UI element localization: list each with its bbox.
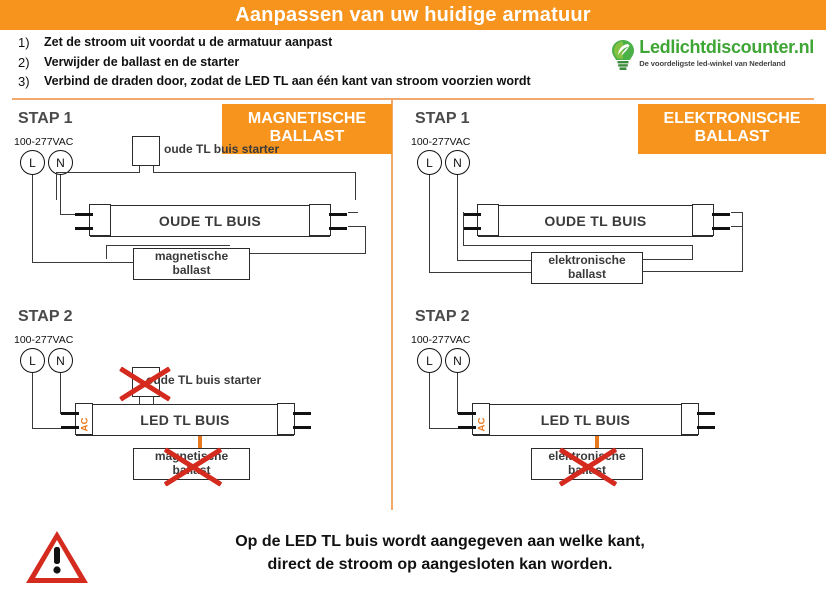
right-step1-ballast-label: elektronische ballast bbox=[548, 254, 625, 282]
badge-line-1: MAGNETISCHE bbox=[232, 110, 382, 128]
right-step2-tube-label: LED TL BUIS bbox=[541, 412, 630, 428]
right-step1-pin-r2 bbox=[712, 227, 730, 230]
left-step1-pin-l2 bbox=[75, 227, 93, 230]
left-step1-tube-label: OUDE TL BUIS bbox=[159, 213, 261, 229]
page-title-bar: Aanpassen van uw huidige armatuur bbox=[0, 0, 826, 30]
badge-line-2: BALLAST bbox=[648, 128, 816, 146]
left-step1-starter-wire-right bbox=[153, 172, 356, 173]
left-step1-pin-r1 bbox=[329, 213, 347, 216]
left-step2-ballast-x-icon bbox=[160, 442, 226, 492]
right-step2-pin-r2 bbox=[697, 426, 715, 429]
right-step1-ret-to-ballast bbox=[641, 271, 743, 272]
left-step1-tube-cap-left bbox=[89, 204, 111, 236]
right-step1-wire-l-to-ballast bbox=[429, 272, 531, 273]
right-step1-ballast-box: elektronische ballast bbox=[531, 252, 643, 284]
left-step2-pin-l1 bbox=[61, 412, 79, 415]
right-step2-ballast-x-icon bbox=[555, 442, 621, 492]
right-step1-pin-r1 bbox=[712, 213, 730, 216]
instruction-number: 3) bbox=[18, 74, 44, 89]
right-step2-pin-l2 bbox=[458, 426, 476, 429]
left-step1-wire-l-to-ballast bbox=[32, 262, 140, 263]
left-step1-wire-n-down bbox=[60, 175, 61, 215]
warning-triangle-icon bbox=[24, 528, 90, 586]
footer-line-2: direct de stroom op aangesloten kan word… bbox=[110, 553, 770, 576]
left-step1-starter-label: oude TL buis starter bbox=[164, 142, 279, 156]
left-step2-pin-r2 bbox=[293, 426, 311, 429]
left-step1-ret-down bbox=[365, 226, 366, 254]
left-step1-ballast-line1: magnetische bbox=[155, 249, 228, 263]
left-step2-pin-r1 bbox=[293, 412, 311, 415]
left-step2-tube-cap-right bbox=[277, 403, 295, 435]
left-step2-wire-n-down bbox=[60, 373, 61, 414]
left-step1-tube-bottom-wire bbox=[106, 245, 230, 246]
left-step1-pin-r2 bbox=[329, 227, 347, 230]
instruction-item: 3) Verbind de draden door, zodat de LED … bbox=[18, 74, 618, 90]
left-step2-led-tube: AC LED TL BUIS bbox=[76, 404, 294, 436]
badge-line-1: ELEKTRONISCHE bbox=[648, 110, 816, 128]
instruction-item: 1) Zet de stroom uit voordat u de armatu… bbox=[18, 35, 618, 51]
right-step1-wire-n-down bbox=[457, 175, 458, 261]
right-step2-led-tube: AC LED TL BUIS bbox=[473, 404, 698, 436]
right-step1-voltage: 100-277VAC bbox=[411, 136, 470, 148]
left-step1-starter-body bbox=[132, 136, 160, 166]
logo-name: Ledlichtdiscounter.nl bbox=[639, 38, 814, 56]
right-step1-ballast-line2: ballast bbox=[568, 267, 606, 281]
left-step1-voltage: 100-277VAC bbox=[14, 136, 73, 148]
page-title: Aanpassen van uw huidige armatuur bbox=[235, 4, 591, 27]
left-step2-title: STAP 2 bbox=[18, 308, 73, 326]
right-step1-pin-l1 bbox=[463, 213, 481, 216]
right-step1-bus-to-ballast bbox=[641, 259, 693, 260]
right-step2-tube-cap-right bbox=[681, 403, 699, 435]
footer-line-1: Op de LED TL buis wordt aangegeven aan w… bbox=[110, 530, 770, 553]
left-step1-tube: OUDE TL BUIS bbox=[90, 205, 330, 237]
left-step1-tube-bottom-drop bbox=[106, 245, 107, 259]
left-step2-tube-label: LED TL BUIS bbox=[140, 412, 229, 428]
right-step1-tube-cap-right bbox=[692, 204, 714, 236]
left-step2-starter-x-icon bbox=[116, 362, 174, 406]
right-step2-tube-cap-left: AC bbox=[472, 403, 490, 435]
right-step2-pin-r1 bbox=[697, 412, 715, 415]
instruction-number: 1) bbox=[18, 35, 44, 50]
left-step1-ret-top bbox=[348, 212, 358, 213]
logo-tagline: De voordeligste led-winkel van Nederland bbox=[639, 59, 814, 68]
right-step2-terminal-n: N bbox=[445, 348, 470, 373]
left-step1-ret-bot bbox=[348, 226, 366, 227]
left-step2-voltage: 100-277VAC bbox=[14, 334, 73, 346]
right-step2-voltage: 100-277VAC bbox=[411, 334, 470, 346]
lightbulb-leaf-icon bbox=[610, 38, 636, 72]
right-step1-tube: OUDE TL BUIS bbox=[478, 205, 713, 237]
left-step1-starter-drop-left bbox=[56, 172, 57, 200]
right-step1-ret-down bbox=[742, 212, 743, 272]
left-step1-ballast-line2: ballast bbox=[172, 263, 210, 277]
right-step1-bus-bottom bbox=[463, 245, 693, 246]
logo-text-block: Ledlichtdiscounter.nl De voordeligste le… bbox=[639, 38, 814, 68]
left-step1-wire-l-down bbox=[32, 175, 33, 263]
panel-electronic-ballast: ELEKTRONISCHE BALLAST STAP 1 100-277VAC … bbox=[393, 100, 826, 510]
right-step2-title: STAP 2 bbox=[415, 308, 470, 326]
left-step1-starter-wire-left bbox=[56, 172, 140, 173]
left-step2-terminal-n: N bbox=[48, 348, 73, 373]
badge-elektronische-ballast: ELEKTRONISCHE BALLAST bbox=[638, 104, 826, 154]
footer-text: Op de LED TL buis wordt aangegeven aan w… bbox=[110, 530, 770, 576]
right-step2-wire-l-down bbox=[429, 373, 430, 429]
brand-logo: Ledlichtdiscounter.nl De voordeligste le… bbox=[610, 38, 814, 72]
right-step2-pin-l1 bbox=[458, 412, 476, 415]
left-step2-wire-l-down bbox=[32, 373, 33, 429]
left-step1-starter-drop-right bbox=[355, 172, 356, 200]
left-step1-ballast-label: magnetische ballast bbox=[155, 250, 228, 278]
left-step1-terminal-l: L bbox=[20, 150, 45, 175]
instruction-number: 2) bbox=[18, 55, 44, 70]
right-step2-terminal-l: L bbox=[417, 348, 442, 373]
left-step1-ballast-box: magnetische ballast bbox=[133, 248, 250, 280]
left-step1-tube-cap-right bbox=[309, 204, 331, 236]
right-step2-wire-n-down bbox=[457, 373, 458, 414]
left-step1-title: STAP 1 bbox=[18, 110, 73, 128]
instruction-text: Zet de stroom uit voordat u de armatuur … bbox=[44, 35, 332, 51]
right-step1-terminal-l: L bbox=[417, 150, 442, 175]
panel-magnetic-ballast: MAGNETISCHE BALLAST STAP 1 100-277VAC L … bbox=[0, 100, 391, 510]
left-step2-tube-cap-left: AC bbox=[75, 403, 93, 435]
right-step1-title: STAP 1 bbox=[415, 110, 470, 128]
diagram-page: Aanpassen van uw huidige armatuur 1) Zet… bbox=[0, 0, 826, 598]
right-step1-tube-cap-left bbox=[477, 204, 499, 236]
right-step1-tube-label: OUDE TL BUIS bbox=[544, 213, 646, 229]
right-step1-wire-n-to-ballast bbox=[457, 260, 531, 261]
left-step2-terminal-l: L bbox=[20, 348, 45, 373]
right-step1-pin-l2 bbox=[463, 227, 481, 230]
left-step2-pin-l2 bbox=[61, 426, 79, 429]
instruction-text: Verbind de draden door, zodat de LED TL … bbox=[44, 74, 531, 90]
right-step1-bus-drop bbox=[692, 245, 693, 260]
left-step1-pin-l1 bbox=[75, 213, 93, 216]
instruction-text: Verwijder de ballast en de starter bbox=[44, 55, 239, 71]
instruction-item: 2) Verwijder de ballast en de starter bbox=[18, 55, 618, 71]
left-step2-ac-label: AC bbox=[80, 404, 91, 432]
right-step1-wire-l-down bbox=[429, 175, 430, 273]
right-step1-ballast-line1: elektronische bbox=[548, 253, 625, 267]
right-step1-terminal-n: N bbox=[445, 150, 470, 175]
instructions-list: 1) Zet de stroom uit voordat u de armatu… bbox=[18, 35, 618, 94]
footer-warning: Op de LED TL buis wordt aangegeven aan w… bbox=[0, 514, 826, 598]
right-step2-ac-label: AC bbox=[477, 404, 488, 432]
right-step1-bus-left bbox=[463, 212, 464, 246]
